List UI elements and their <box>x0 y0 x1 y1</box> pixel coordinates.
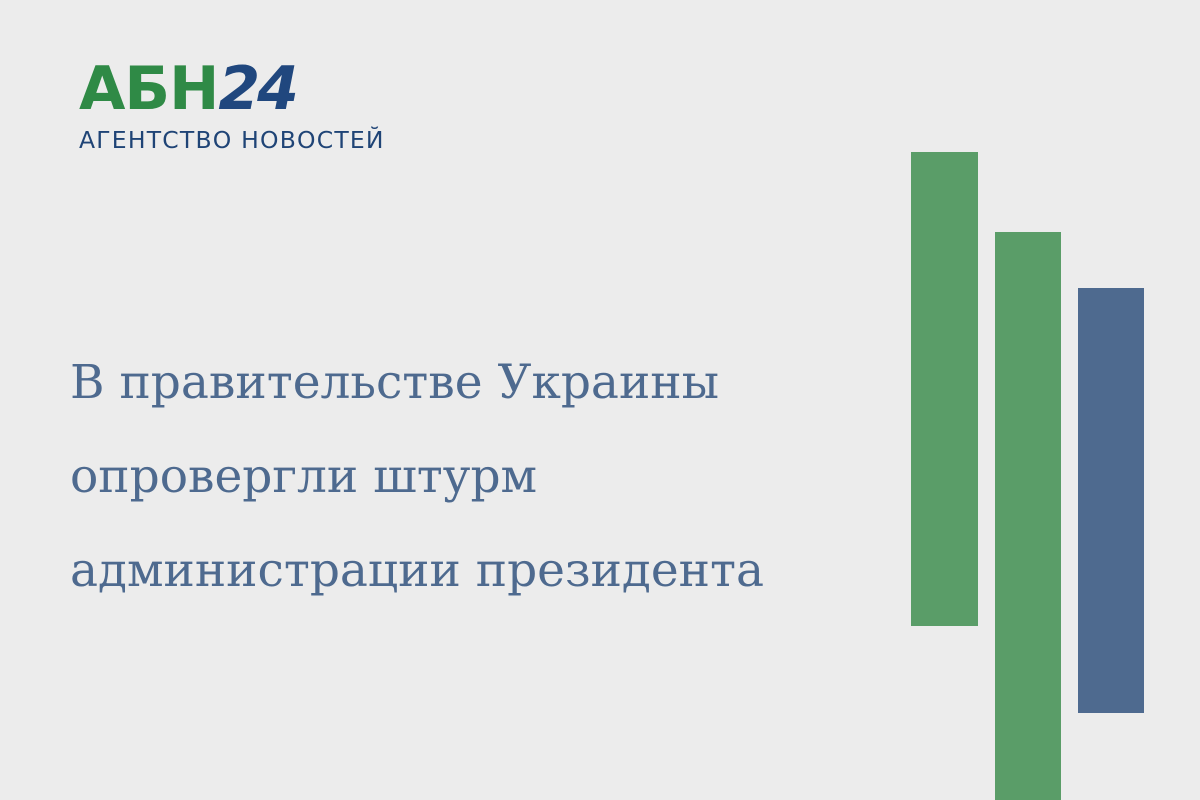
headline-line-2: опровергли штурм <box>70 430 870 524</box>
headline-line-1: В правительстве Украины <box>70 336 870 430</box>
abn24-logo[interactable]: АБН24 АГЕНТСТВО НОВОСТЕЙ <box>79 58 379 160</box>
decorative-bar-1 <box>911 152 978 626</box>
news-card: АБН24 АГЕНТСТВО НОВОСТЕЙ В правительстве… <box>0 0 1200 800</box>
headline-line-3: администрации президента <box>70 524 870 618</box>
decorative-bar-3 <box>1078 288 1144 713</box>
logo-text-abn: АБН <box>79 54 218 124</box>
decorative-bar-2 <box>995 232 1061 800</box>
logo-wordmark: АБН24 <box>79 58 379 120</box>
logo-tagline: АГЕНТСТВО НОВОСТЕЙ <box>79 126 379 154</box>
headline: В правительстве Украины опровергли штурм… <box>70 336 870 618</box>
logo-text-24: 24 <box>218 54 296 124</box>
